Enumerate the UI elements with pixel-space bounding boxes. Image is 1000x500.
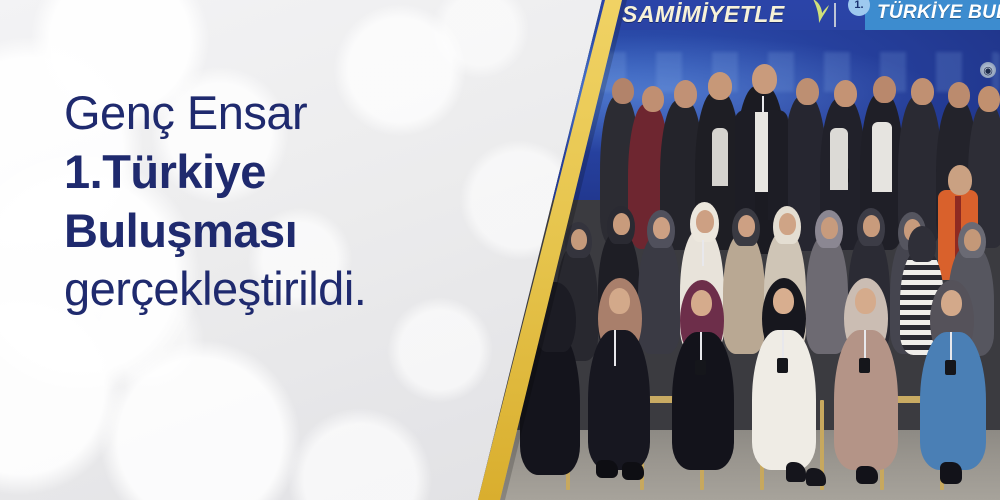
person [872, 122, 892, 192]
person-head [873, 76, 896, 103]
headline-line-2: 1.Türkiye [64, 147, 484, 197]
name-badge [777, 358, 788, 373]
person-head [911, 78, 934, 105]
person-head [834, 80, 857, 107]
person-head [821, 217, 838, 239]
person-head [779, 213, 796, 235]
person-head [642, 86, 664, 112]
person-head [738, 215, 755, 237]
lanyard [950, 332, 952, 362]
person-head [796, 78, 819, 105]
name-badge [859, 358, 870, 373]
person [920, 332, 986, 470]
headline-line-1: Genç Ensar [64, 88, 484, 138]
person-head [863, 215, 880, 237]
person-head [691, 290, 712, 316]
person-head [978, 86, 1000, 112]
person [735, 110, 755, 220]
person-head [708, 72, 732, 100]
person [723, 234, 765, 354]
name-badge [945, 360, 956, 375]
shoe [940, 462, 962, 484]
person [588, 330, 650, 470]
person-head [752, 64, 777, 94]
person-head [948, 165, 972, 195]
headline-block: Genç Ensar 1.Türkiye Buluşması gerçekleş… [64, 88, 484, 314]
headline-line-3: Buluşması [64, 206, 484, 256]
person [830, 128, 848, 190]
person-head [855, 288, 876, 314]
lanyard [700, 332, 702, 362]
person [712, 128, 728, 186]
shoe [622, 462, 644, 480]
person-head [612, 78, 634, 104]
person-head [696, 210, 714, 233]
shoe [856, 466, 878, 484]
person [806, 236, 848, 354]
person-head [571, 229, 587, 250]
person-head [948, 82, 970, 108]
promo-banner-image: Genç Ensar 1.Türkiye Buluşması gerçekleş… [0, 0, 1000, 500]
lanyard [864, 330, 866, 360]
headline-line-4: gerçekleştirildi. [64, 264, 484, 314]
person [768, 110, 788, 220]
lanyard [614, 330, 616, 366]
person-head [773, 288, 794, 314]
name-badge [695, 360, 706, 375]
person [672, 332, 734, 470]
lanyard [702, 240, 704, 266]
person [752, 330, 816, 470]
person-head [941, 290, 962, 316]
shoe [596, 460, 618, 478]
person-head [613, 213, 630, 235]
headscarf [908, 226, 936, 262]
person [834, 330, 898, 470]
person-head [609, 288, 630, 314]
lanyard [782, 330, 784, 360]
person-head [674, 80, 697, 108]
person-head [653, 217, 670, 239]
person-head [964, 229, 981, 251]
person [638, 236, 680, 354]
